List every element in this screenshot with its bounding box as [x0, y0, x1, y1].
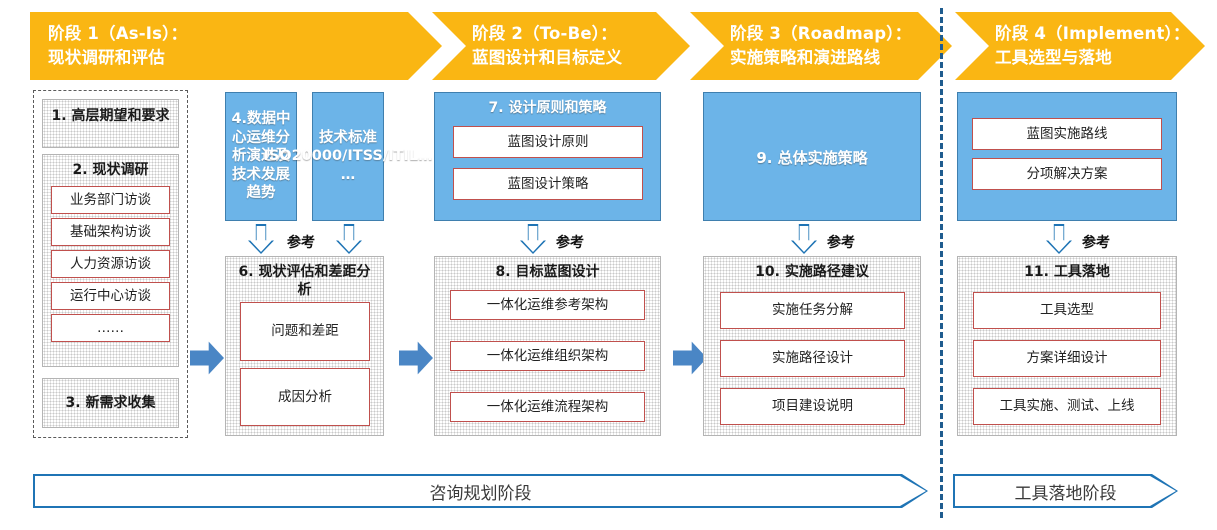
- box-1-high-level-expectations[interactable]: 1. 高层期望和要求: [42, 99, 179, 148]
- phase-banner-4: 阶段 4（Implement）： 工具选型与落地: [955, 12, 1205, 80]
- reference-down-arrow-col2-right: [336, 224, 362, 254]
- box-10-item-0[interactable]: 实施任务分解: [720, 292, 905, 329]
- box-6-item-0[interactable]: 问题和差距: [240, 302, 370, 361]
- box-2-item-0[interactable]: 业务部门访谈: [51, 186, 170, 214]
- reference-down-arrow-col3: [520, 224, 546, 254]
- phase-3-line2: 实施策略和演进路线: [730, 46, 952, 70]
- box-10-title: 10. 实施路径建议: [704, 264, 920, 282]
- flow-arrow-right-2: [399, 341, 433, 375]
- box-7-item-0[interactable]: 蓝图设计原则: [453, 126, 643, 158]
- box-7-item-1[interactable]: 蓝图设计策略: [453, 168, 643, 200]
- reference-down-arrow-col2-left: [248, 224, 274, 254]
- reference-label-col2: 参考: [287, 232, 315, 252]
- reference-label-col5: 参考: [1082, 232, 1110, 252]
- box-8-item-0[interactable]: 一体化运维参考架构: [450, 290, 645, 320]
- box-6-title: 6. 现状评估和差距分析: [226, 264, 383, 299]
- phase-2-line2: 蓝图设计和目标定义: [472, 46, 690, 70]
- box-9-overall-implementation-strategy[interactable]: 9. 总体实施策略: [703, 92, 921, 221]
- box-8-title: 8. 目标蓝图设计: [435, 264, 660, 282]
- flow-arrow-right-3: [673, 341, 707, 375]
- box-11-title: 11. 工具落地: [958, 264, 1176, 282]
- box-7-title: 7. 设计原则和策略: [435, 100, 660, 118]
- box-2-item-1[interactable]: 基础架构访谈: [51, 218, 170, 246]
- box-2-item-4[interactable]: ……: [51, 314, 170, 342]
- flow-arrow-right-1: [190, 341, 224, 375]
- box-11-item-0[interactable]: 工具选型: [973, 292, 1161, 329]
- box-11-item-2[interactable]: 工具实施、测试、上线: [973, 388, 1161, 425]
- box-blueprint-implementation-panel[interactable]: [957, 92, 1177, 221]
- box-top-item-1[interactable]: 分项解决方案: [972, 158, 1162, 190]
- diagram-canvas: 阶段 1（As-Is）： 现状调研和评估 阶段 2（To-Be）： 蓝图设计和目…: [0, 0, 1217, 530]
- box-9-title: 9. 总体实施策略: [704, 149, 920, 168]
- box-3-new-requirements[interactable]: 3. 新需求收集: [42, 378, 179, 428]
- section-divider: [940, 8, 943, 518]
- phase-banner-3: 阶段 3（Roadmap）： 实施策略和演进路线: [690, 12, 952, 80]
- box-1-title: 1. 高层期望和要求: [43, 108, 178, 126]
- box-10-item-1[interactable]: 实施路径设计: [720, 340, 905, 377]
- phase-1-line2: 现状调研和评估: [48, 46, 442, 70]
- box-3-title: 3. 新需求收集: [43, 395, 178, 413]
- box-tech-standards[interactable]: 技术标准ISO20000/ITSS/ITIL… …: [312, 92, 384, 221]
- box-6-item-1[interactable]: 成因分析: [240, 368, 370, 426]
- phase-1-line1: 阶段 1（As-Is）：: [48, 22, 442, 46]
- banner-tool-landing-phase: 工具落地阶段: [953, 474, 1178, 508]
- phase-banner-1: 阶段 1（As-Is）： 现状调研和评估: [30, 12, 442, 80]
- box-2-item-2[interactable]: 人力资源访谈: [51, 250, 170, 278]
- phase-banner-2: 阶段 2（To-Be）： 蓝图设计和目标定义: [432, 12, 690, 80]
- phase-2-line1: 阶段 2（To-Be）：: [472, 22, 690, 46]
- phase-4-line2: 工具选型与落地: [995, 46, 1205, 70]
- reference-down-arrow-col4: [791, 224, 817, 254]
- reference-label-col3: 参考: [556, 232, 584, 252]
- reference-down-arrow-col5: [1046, 224, 1072, 254]
- box-8-item-2[interactable]: 一体化运维流程架构: [450, 392, 645, 422]
- box-10-item-2[interactable]: 项目建设说明: [720, 388, 905, 425]
- box-top-item-0[interactable]: 蓝图实施路线: [972, 118, 1162, 150]
- banner-right-label: 工具落地阶段: [1015, 479, 1117, 504]
- box-11-item-1[interactable]: 方案详细设计: [973, 340, 1161, 377]
- box-8-item-1[interactable]: 一体化运维组织架构: [450, 341, 645, 371]
- banner-left-label: 咨询规划阶段: [430, 479, 532, 504]
- box-2-item-3[interactable]: 运行中心访谈: [51, 282, 170, 310]
- banner-consulting-phase: 咨询规划阶段: [33, 474, 928, 508]
- phase-4-line1: 阶段 4（Implement）：: [995, 22, 1205, 46]
- box-2-title: 2. 现状调研: [43, 162, 178, 180]
- phase-3-line1: 阶段 3（Roadmap）：: [730, 22, 952, 46]
- reference-label-col4: 参考: [827, 232, 855, 252]
